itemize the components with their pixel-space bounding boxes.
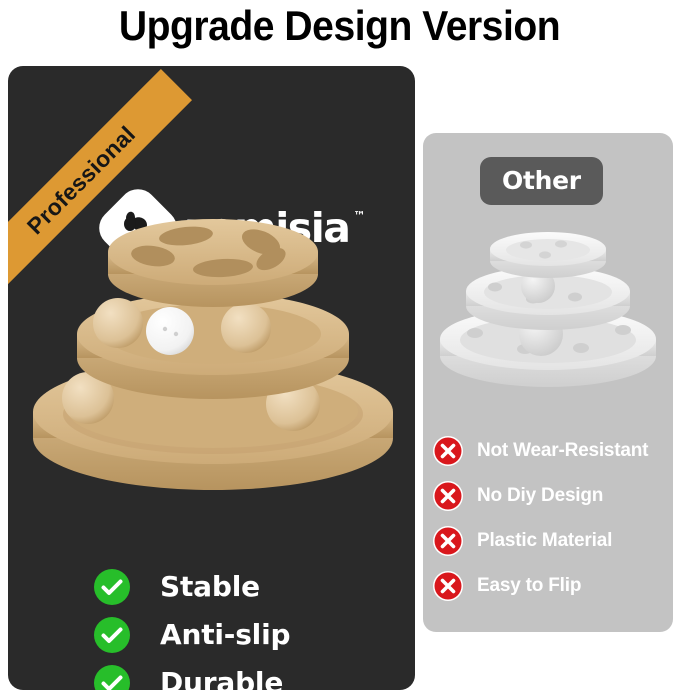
drawback-item: Plastic Material [433,518,673,563]
other-badge-label: Other [502,166,581,195]
page-title: Upgrade Design Version [24,2,655,50]
bamboo-cat-toy-tower-image [18,206,408,496]
other-panel: Other [423,133,673,632]
x-circle-icon [433,436,463,466]
feature-label: Anti-slip [160,618,290,651]
infographic-page: Upgrade Design Version Professional zomi… [0,0,679,697]
drawback-item: Not Wear-Resistant [433,428,673,473]
drawback-label: Easy to Flip [477,575,581,597]
feature-label: Durable [160,666,283,690]
drawback-item: No Diy Design [433,473,673,518]
check-circle-icon [94,665,130,691]
plastic-cat-toy-tower-image [433,221,663,396]
feature-item: Durable [94,660,404,690]
feature-item: Stable [94,564,404,609]
feature-item: Anti-slip [94,612,404,657]
check-circle-icon [94,569,130,605]
drawback-label: No Diy Design [477,485,603,507]
drawback-label: Not Wear-Resistant [477,440,648,462]
feature-list: Stable Anti-slip Durable [94,564,404,690]
feature-label: Stable [160,570,260,603]
product-panel: Professional zomisia™ [8,66,415,690]
drawback-label: Plastic Material [477,530,612,552]
drawback-item: Easy to Flip [433,563,673,608]
x-circle-icon [433,481,463,511]
x-circle-icon [433,526,463,556]
drawback-list: Not Wear-Resistant No Diy Design Plastic… [433,428,673,608]
other-badge: Other [480,157,603,205]
check-circle-icon [94,617,130,653]
x-circle-icon [433,571,463,601]
